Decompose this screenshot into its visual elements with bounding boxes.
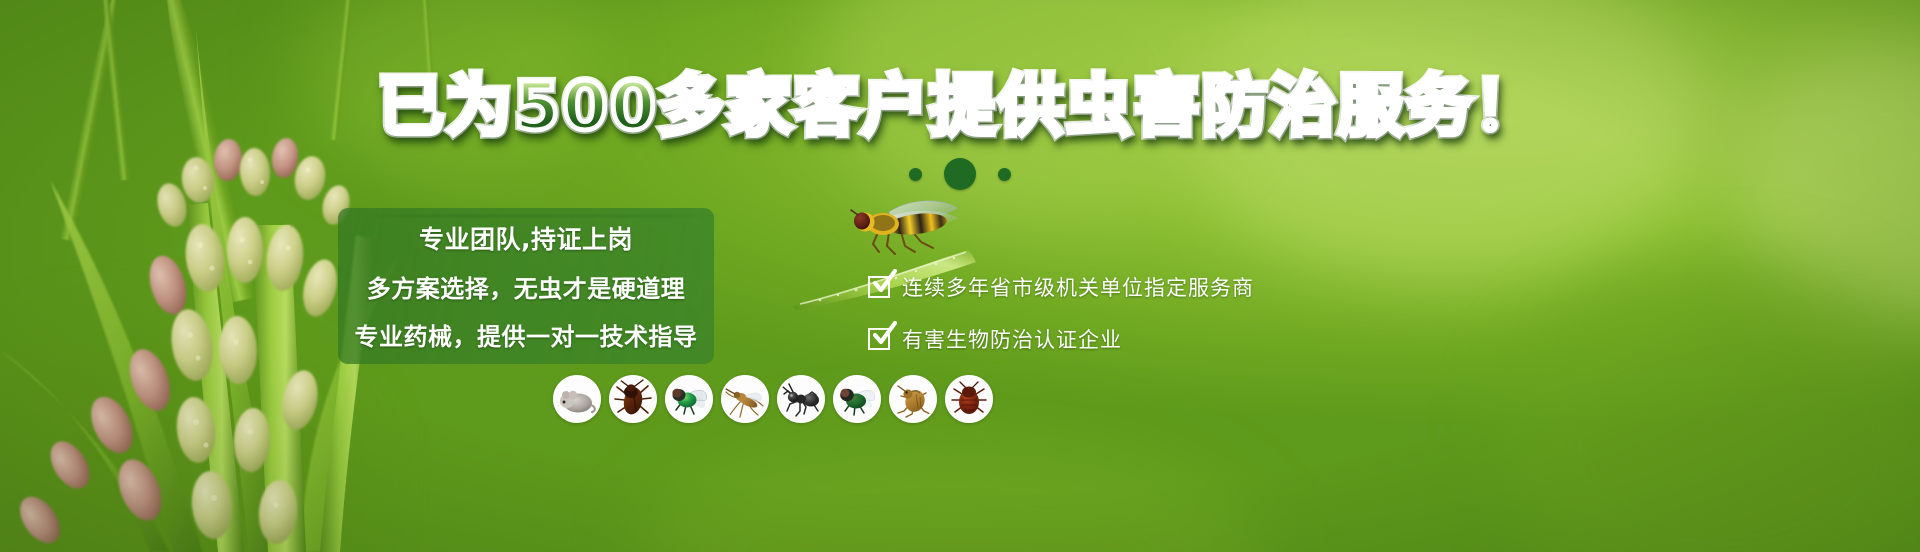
- bedbug-icon[interactable]: [945, 375, 993, 423]
- cockroach-icon[interactable]: [609, 375, 657, 423]
- slogan-line-1: 专业团队,持证上岗: [419, 220, 633, 256]
- decorative-dots: [0, 158, 1920, 190]
- check-glyph-icon: [871, 269, 897, 295]
- mosquito-icon[interactable]: [721, 375, 769, 423]
- checkbox-check-icon: [868, 276, 890, 298]
- dot-large-icon: [944, 158, 976, 190]
- check-glyph-icon: [871, 321, 897, 347]
- pest-icon-row: [553, 375, 993, 423]
- hoverfly-icon: [845, 196, 975, 266]
- mouse-icon[interactable]: [553, 375, 601, 423]
- dot-small-left-icon: [909, 168, 922, 181]
- promo-banner: 已为500多家客户提供虫害防治服务！ 已为500多家客户提供虫害防治服务！ 专业…: [0, 0, 1920, 552]
- checkbox-check-icon: [868, 328, 890, 350]
- housefly-icon[interactable]: [833, 375, 881, 423]
- credential-item: 有害生物防治认证企业: [868, 324, 1254, 354]
- slogan-line-2: 多方案选择，无虫才是硬道理: [367, 269, 686, 304]
- credential-item: 连续多年省市级机关单位指定服务商: [868, 272, 1254, 302]
- flea-icon[interactable]: [889, 375, 937, 423]
- dot-small-right-icon: [998, 168, 1011, 181]
- slogan-list: 专业团队,持证上岗 多方案选择，无虫才是硬道理 专业药械，提供一对一技术指导: [338, 208, 714, 364]
- page-title: 已为500多家客户提供虫害防治服务！: [0, 74, 1920, 140]
- credential-label: 连续多年省市级机关单位指定服务商: [902, 272, 1254, 302]
- slogan-line-3: 专业药械，提供一对一技术指导: [355, 317, 698, 352]
- credential-label: 有害生物防治认证企业: [902, 324, 1122, 354]
- blowfly-icon[interactable]: [665, 375, 713, 423]
- credentials-list: 连续多年省市级机关单位指定服务商 有害生物防治认证企业: [868, 272, 1254, 354]
- ant-icon[interactable]: [777, 375, 825, 423]
